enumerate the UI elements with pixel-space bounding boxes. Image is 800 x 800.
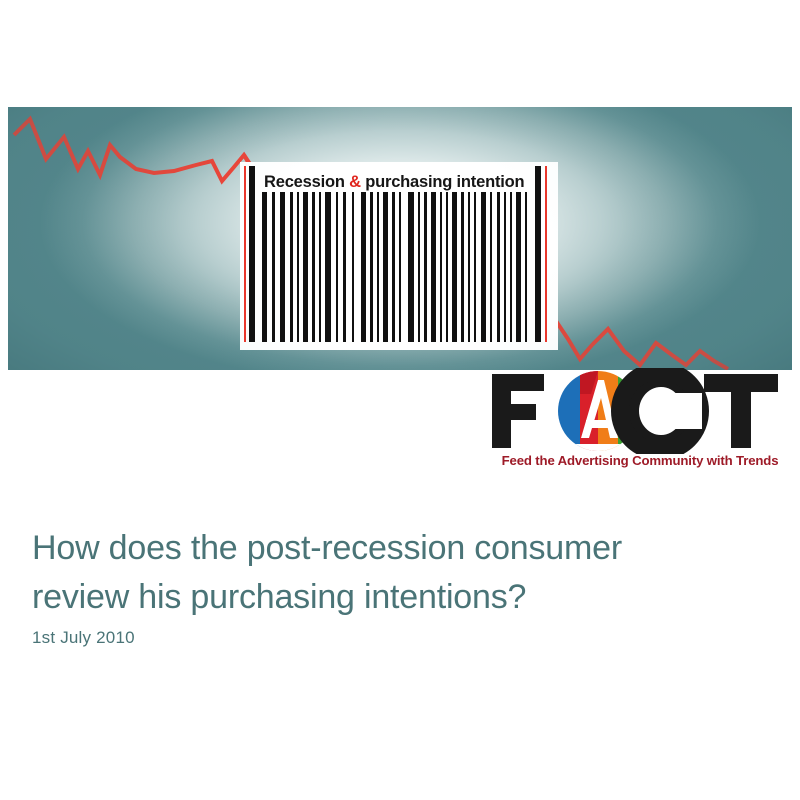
barcode-bars xyxy=(240,192,558,342)
trend-line-left xyxy=(14,119,252,181)
barcode-bar xyxy=(490,192,492,342)
fact-logo: Feed the Advertising Community with Tren… xyxy=(488,368,792,480)
barcode-title-ampersand: & xyxy=(349,173,361,191)
barcode-bar xyxy=(290,192,293,342)
recession-banner: Recession & purchasing intention xyxy=(8,107,792,370)
page-title: How does the post-recession consumer rev… xyxy=(32,524,762,622)
barcode-bar xyxy=(446,192,448,342)
logo-letter-c-icon xyxy=(620,371,702,451)
barcode-guard-left xyxy=(249,166,255,342)
barcode-bar xyxy=(370,192,373,342)
barcode-bar xyxy=(303,192,308,342)
barcode-bar xyxy=(468,192,470,342)
barcode-bar xyxy=(280,192,285,342)
barcode-bar xyxy=(510,192,512,342)
barcode-bar xyxy=(319,192,321,342)
barcode-bar xyxy=(272,192,275,342)
barcode-bar xyxy=(440,192,442,342)
barcode-title: Recession & purchasing intention xyxy=(264,170,536,194)
page-title-line1: How does the post-recession consumer xyxy=(32,529,622,567)
barcode-bar xyxy=(452,192,457,342)
slide-root: Recession & purchasing intention xyxy=(0,0,800,800)
barcode-red-guard-right xyxy=(545,166,547,342)
trend-line-far-right xyxy=(592,329,728,369)
barcode-title-suffix: purchasing intention xyxy=(361,173,525,191)
barcode-bar xyxy=(418,192,420,342)
barcode-bar xyxy=(377,192,379,342)
barcode-bar xyxy=(336,192,338,342)
fact-logo-mark xyxy=(488,368,792,454)
barcode-title-prefix: Recession xyxy=(264,173,349,191)
barcode-bar xyxy=(343,192,346,342)
barcode-bar xyxy=(504,192,506,342)
barcode-bar xyxy=(352,192,354,342)
barcode-bar xyxy=(497,192,500,342)
barcode-bar xyxy=(325,192,331,342)
barcode-bar xyxy=(383,192,388,342)
barcode-bar xyxy=(312,192,315,342)
barcode-bar xyxy=(431,192,436,342)
page-date: 1st July 2010 xyxy=(32,628,135,648)
barcode-red-guard-left xyxy=(244,166,246,342)
barcode-bar xyxy=(481,192,486,342)
barcode-bar xyxy=(525,192,527,342)
barcode-bar xyxy=(408,192,414,342)
barcode-bar xyxy=(297,192,299,342)
barcode-bar xyxy=(361,192,366,342)
barcode-bar xyxy=(461,192,464,342)
page-title-line2: review his purchasing intentions? xyxy=(32,573,762,622)
barcode-bar xyxy=(474,192,476,342)
logo-letter-f-icon xyxy=(492,374,544,448)
logo-letter-t-icon xyxy=(704,374,778,448)
fact-logo-tagline: Feed the Advertising Community with Tren… xyxy=(488,453,792,468)
barcode-bar xyxy=(516,192,521,342)
barcode-bar xyxy=(399,192,401,342)
barcode-bar xyxy=(392,192,395,342)
barcode-bar xyxy=(262,192,267,342)
barcode-graphic: Recession & purchasing intention xyxy=(240,162,558,350)
barcode-bar xyxy=(424,192,427,342)
